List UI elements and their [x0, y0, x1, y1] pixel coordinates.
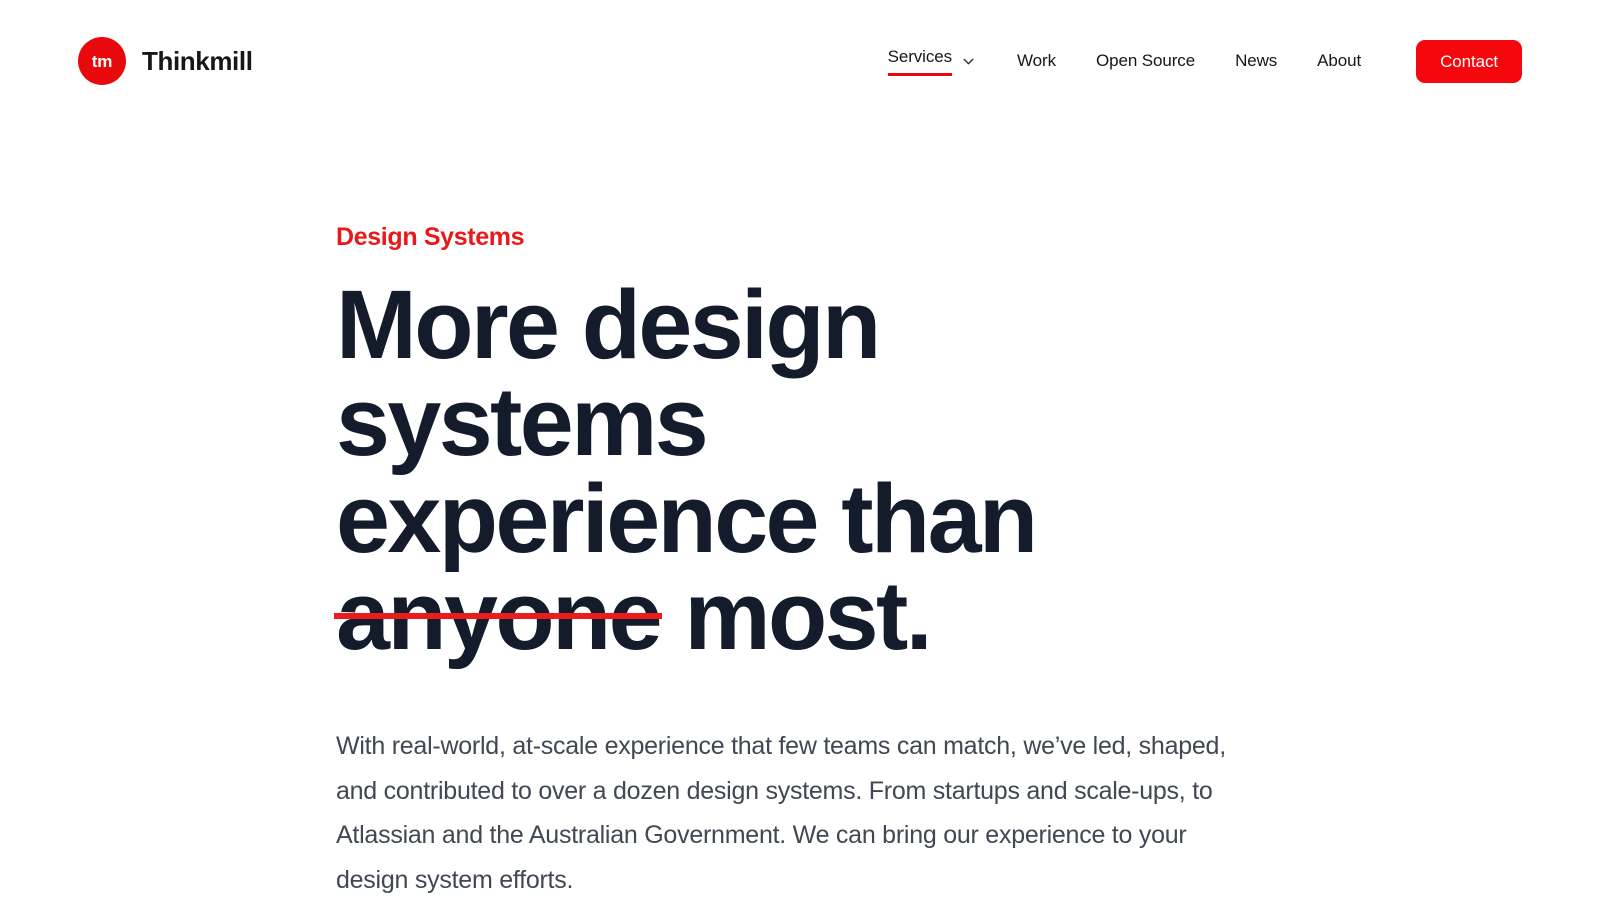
nav-label-news: News [1235, 51, 1277, 71]
nav-label-open-source: Open Source [1096, 51, 1195, 71]
nav-item-work[interactable]: Work [997, 51, 1076, 71]
brand-logo-link[interactable]: tm Thinkmill [78, 37, 253, 85]
hero-heading-strikethrough: anyone [336, 567, 660, 664]
nav-item-services[interactable]: Services [888, 47, 997, 76]
hero-section: Design Systems More design systems exper… [336, 222, 1516, 900]
nav-item-about[interactable]: About [1297, 51, 1381, 71]
hero-heading: More design systems experience than anyo… [336, 276, 1196, 664]
contact-button[interactable]: Contact [1416, 40, 1522, 83]
hero-heading-part-2: most. [684, 561, 930, 670]
nav-item-news[interactable]: News [1215, 51, 1297, 71]
page-root: tm Thinkmill Services Work Open Source [0, 0, 1600, 900]
thinkmill-logo-icon: tm [78, 37, 126, 85]
brand-name: Thinkmill [142, 46, 253, 77]
hero-body-paragraph: With real-world, at-scale experience tha… [336, 724, 1236, 900]
site-header: tm Thinkmill Services Work Open Source [0, 0, 1600, 122]
main-navigation: Services Work Open Source News About Con… [888, 40, 1522, 83]
hero-heading-part-1: More design systems experience than [336, 270, 1036, 573]
hero-eyebrow: Design Systems [336, 222, 1516, 252]
nav-label-services: Services [888, 47, 952, 76]
chevron-down-icon [960, 53, 977, 70]
nav-label-about: About [1317, 51, 1361, 71]
nav-label-work: Work [1017, 51, 1056, 71]
nav-item-open-source[interactable]: Open Source [1076, 51, 1215, 71]
brand-mark-text: tm [92, 53, 112, 70]
